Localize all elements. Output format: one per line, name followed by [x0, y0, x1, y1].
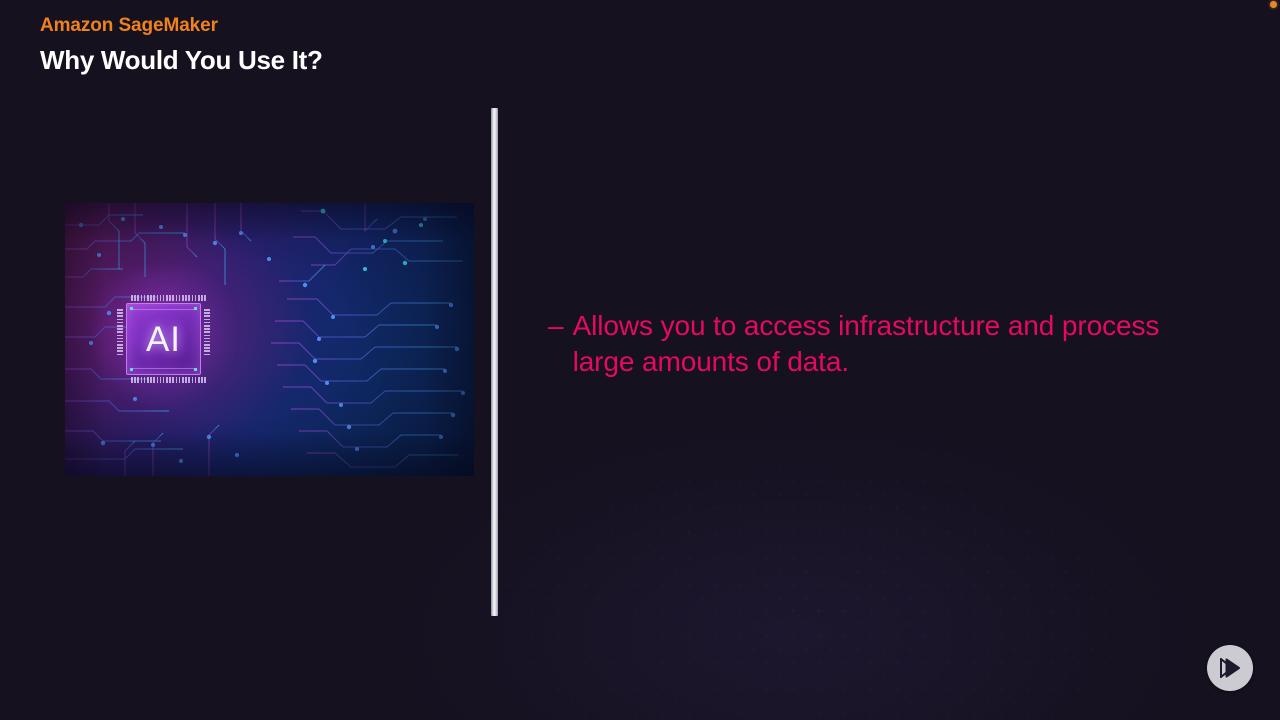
play-forward-icon [1217, 657, 1243, 679]
chip-label: AI [117, 295, 210, 383]
page-title: Why Would You Use It? [40, 46, 323, 76]
slide-header: Amazon SageMaker Why Would You Use It? [40, 16, 323, 76]
bullet-dash-marker: – [548, 308, 564, 344]
ai-chip-graphic: AI [117, 295, 210, 383]
bullet-text: Allows you to access infrastructure and … [573, 308, 1218, 380]
content-body: – Allows you to access infrastructure an… [548, 308, 1228, 380]
eyebrow-label: Amazon SageMaker [40, 16, 323, 37]
recording-dot-icon [1270, 1, 1277, 8]
slide-canvas: Amazon SageMaker Why Would You Use It? [0, 0, 1280, 720]
vertical-divider [491, 108, 498, 616]
play-forward-button[interactable] [1207, 645, 1253, 691]
bullet-item: – Allows you to access infrastructure an… [548, 308, 1228, 380]
